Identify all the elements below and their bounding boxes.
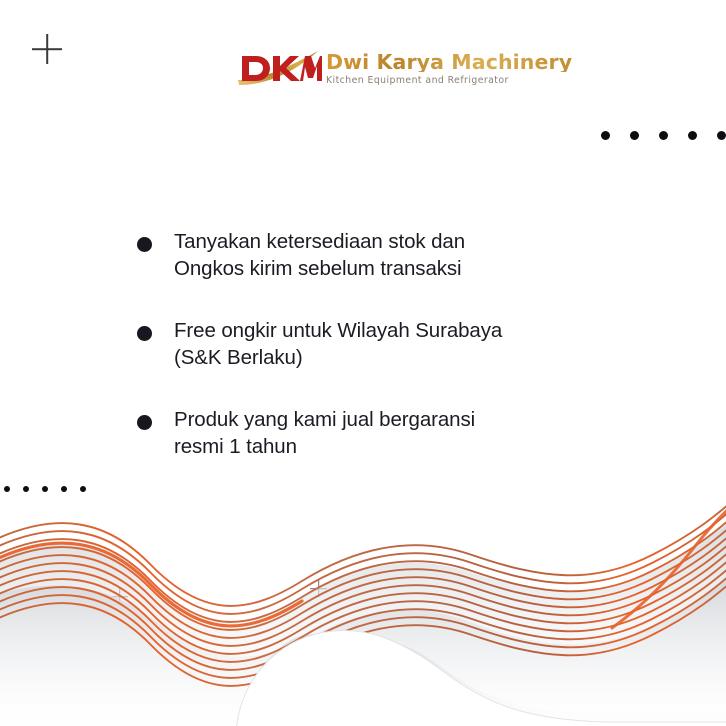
brand-name: Dwi Karya Machinery	[326, 52, 572, 73]
decor-dot	[717, 131, 726, 140]
dkm-monogram-icon	[236, 46, 322, 90]
decor-dot	[659, 131, 668, 140]
list-item-text: Produk yang kami jual bergaransi resmi 1…	[174, 406, 475, 460]
list-item: Free ongkir untuk Wilayah Surabaya (S&K …	[137, 317, 657, 371]
decor-dot	[630, 131, 639, 140]
brand-logo: Dwi Karya Machinery Kitchen Equipment an…	[236, 46, 572, 90]
list-item-text: Tanyakan ketersediaan stok dan Ongkos ki…	[174, 228, 465, 282]
benefits-list: Tanyakan ketersediaan stok dan Ongkos ki…	[137, 228, 657, 460]
bullet-dot-icon	[137, 237, 152, 252]
decorative-wave-graphic	[0, 476, 726, 726]
list-item: Tanyakan ketersediaan stok dan Ongkos ki…	[137, 228, 657, 282]
decor-dot	[601, 131, 610, 140]
list-item: Produk yang kami jual bergaransi resmi 1…	[137, 406, 657, 460]
plus-mark-top-left	[32, 34, 62, 64]
bullet-dot-icon	[137, 415, 152, 430]
bullet-dot-icon	[137, 326, 152, 341]
dot-row-top-right	[601, 131, 726, 140]
decor-dot	[688, 131, 697, 140]
brand-tagline: Kitchen Equipment and Refrigerator	[326, 75, 572, 86]
list-item-text: Free ongkir untuk Wilayah Surabaya (S&K …	[174, 317, 502, 371]
